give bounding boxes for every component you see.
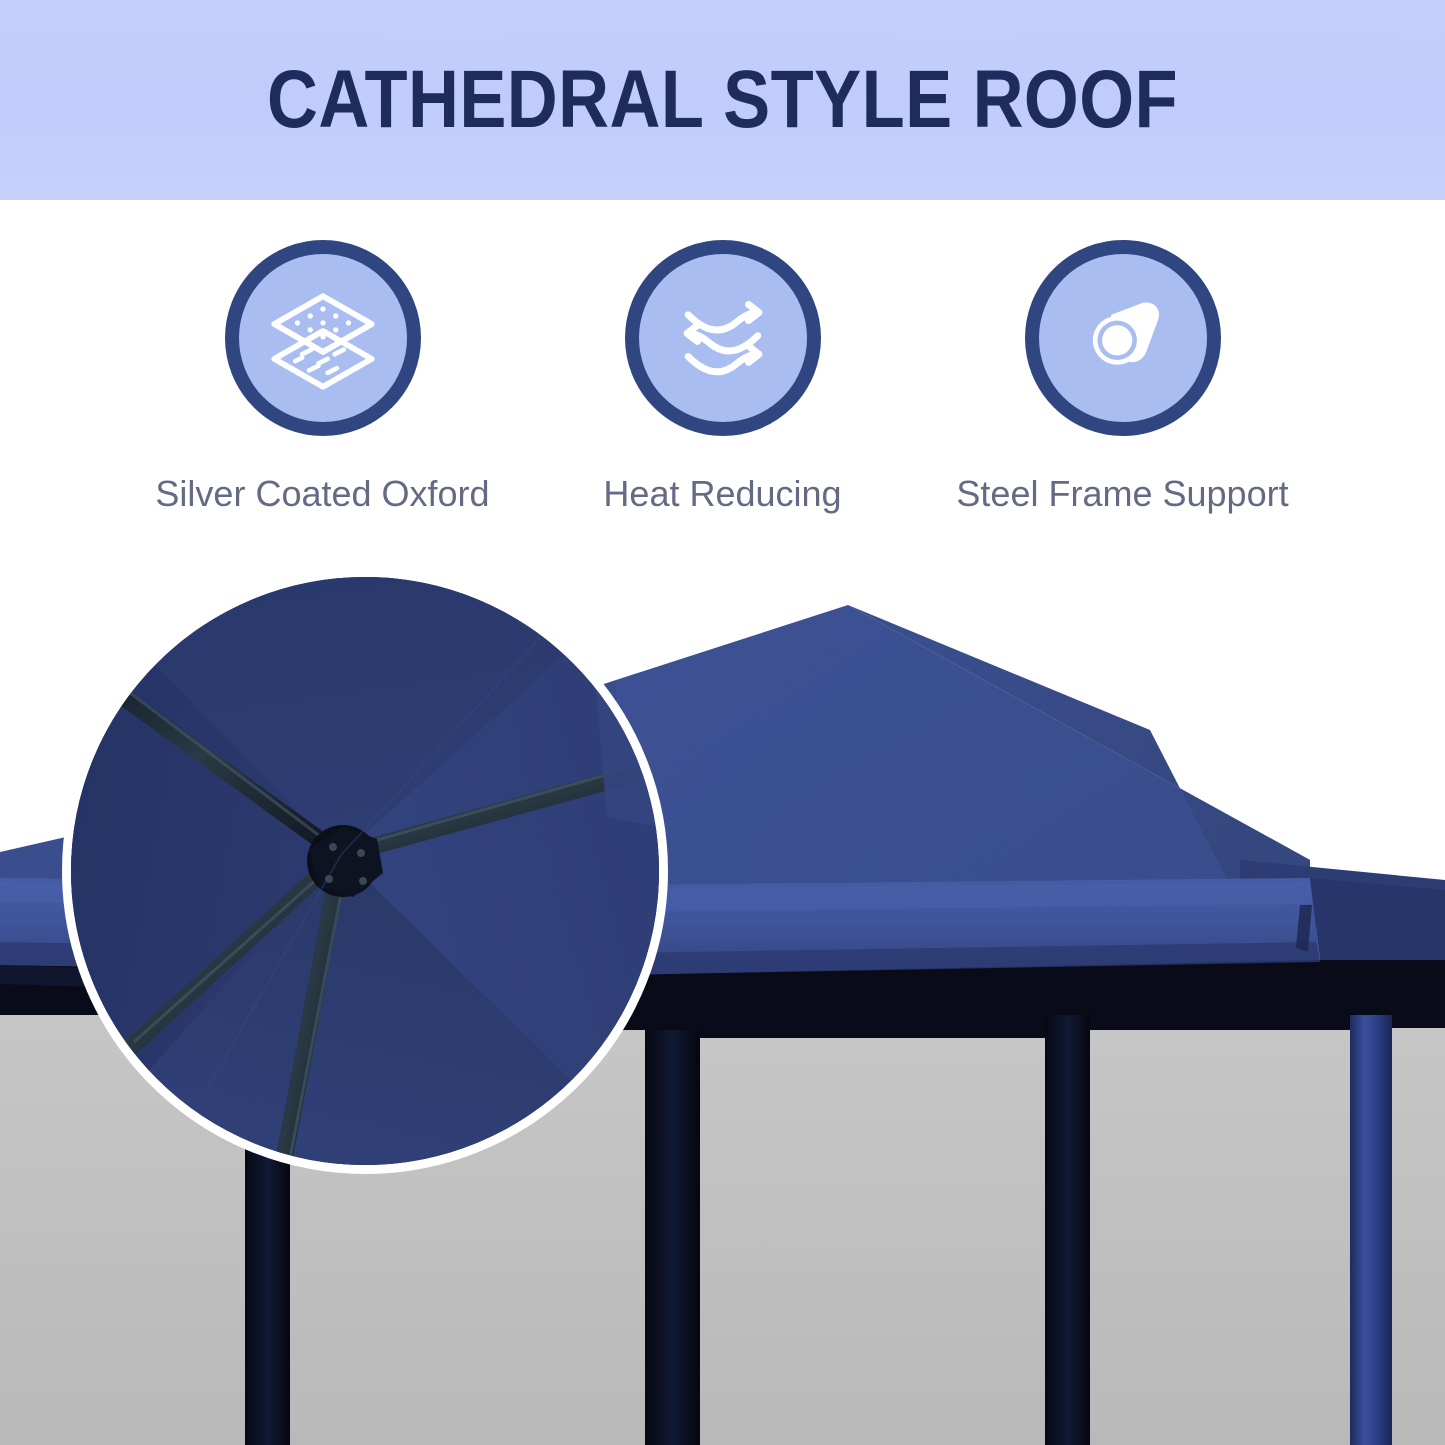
infographic-page: CATHEDRAL STYLE ROOF	[0, 0, 1445, 1445]
steel-tube-icon	[1065, 280, 1181, 396]
feature-label-2: Heat Reducing	[603, 472, 841, 516]
feature-badge-3	[1025, 240, 1221, 436]
feature-item-heat-reducing: Heat Reducing	[523, 240, 923, 516]
feature-item-silver-coated-oxford: Silver Coated Oxford	[123, 240, 523, 516]
page-title: CATHEDRAL STYLE ROOF	[101, 55, 1344, 145]
airflow-waves-icon	[665, 280, 781, 396]
feature-badge-1	[225, 240, 421, 436]
fabric-layers-icon	[265, 280, 381, 396]
product-photo	[0, 560, 1445, 1445]
feature-label-3: Steel Frame Support	[956, 472, 1288, 516]
header-banner: CATHEDRAL STYLE ROOF	[0, 0, 1445, 200]
feature-item-steel-frame-support: Steel Frame Support	[923, 240, 1323, 516]
magnifier-inset	[62, 568, 668, 1174]
feature-label-1: Silver Coated Oxford	[155, 472, 489, 516]
feature-list: Silver Coated Oxford	[0, 240, 1445, 530]
feature-badge-2	[625, 240, 821, 436]
